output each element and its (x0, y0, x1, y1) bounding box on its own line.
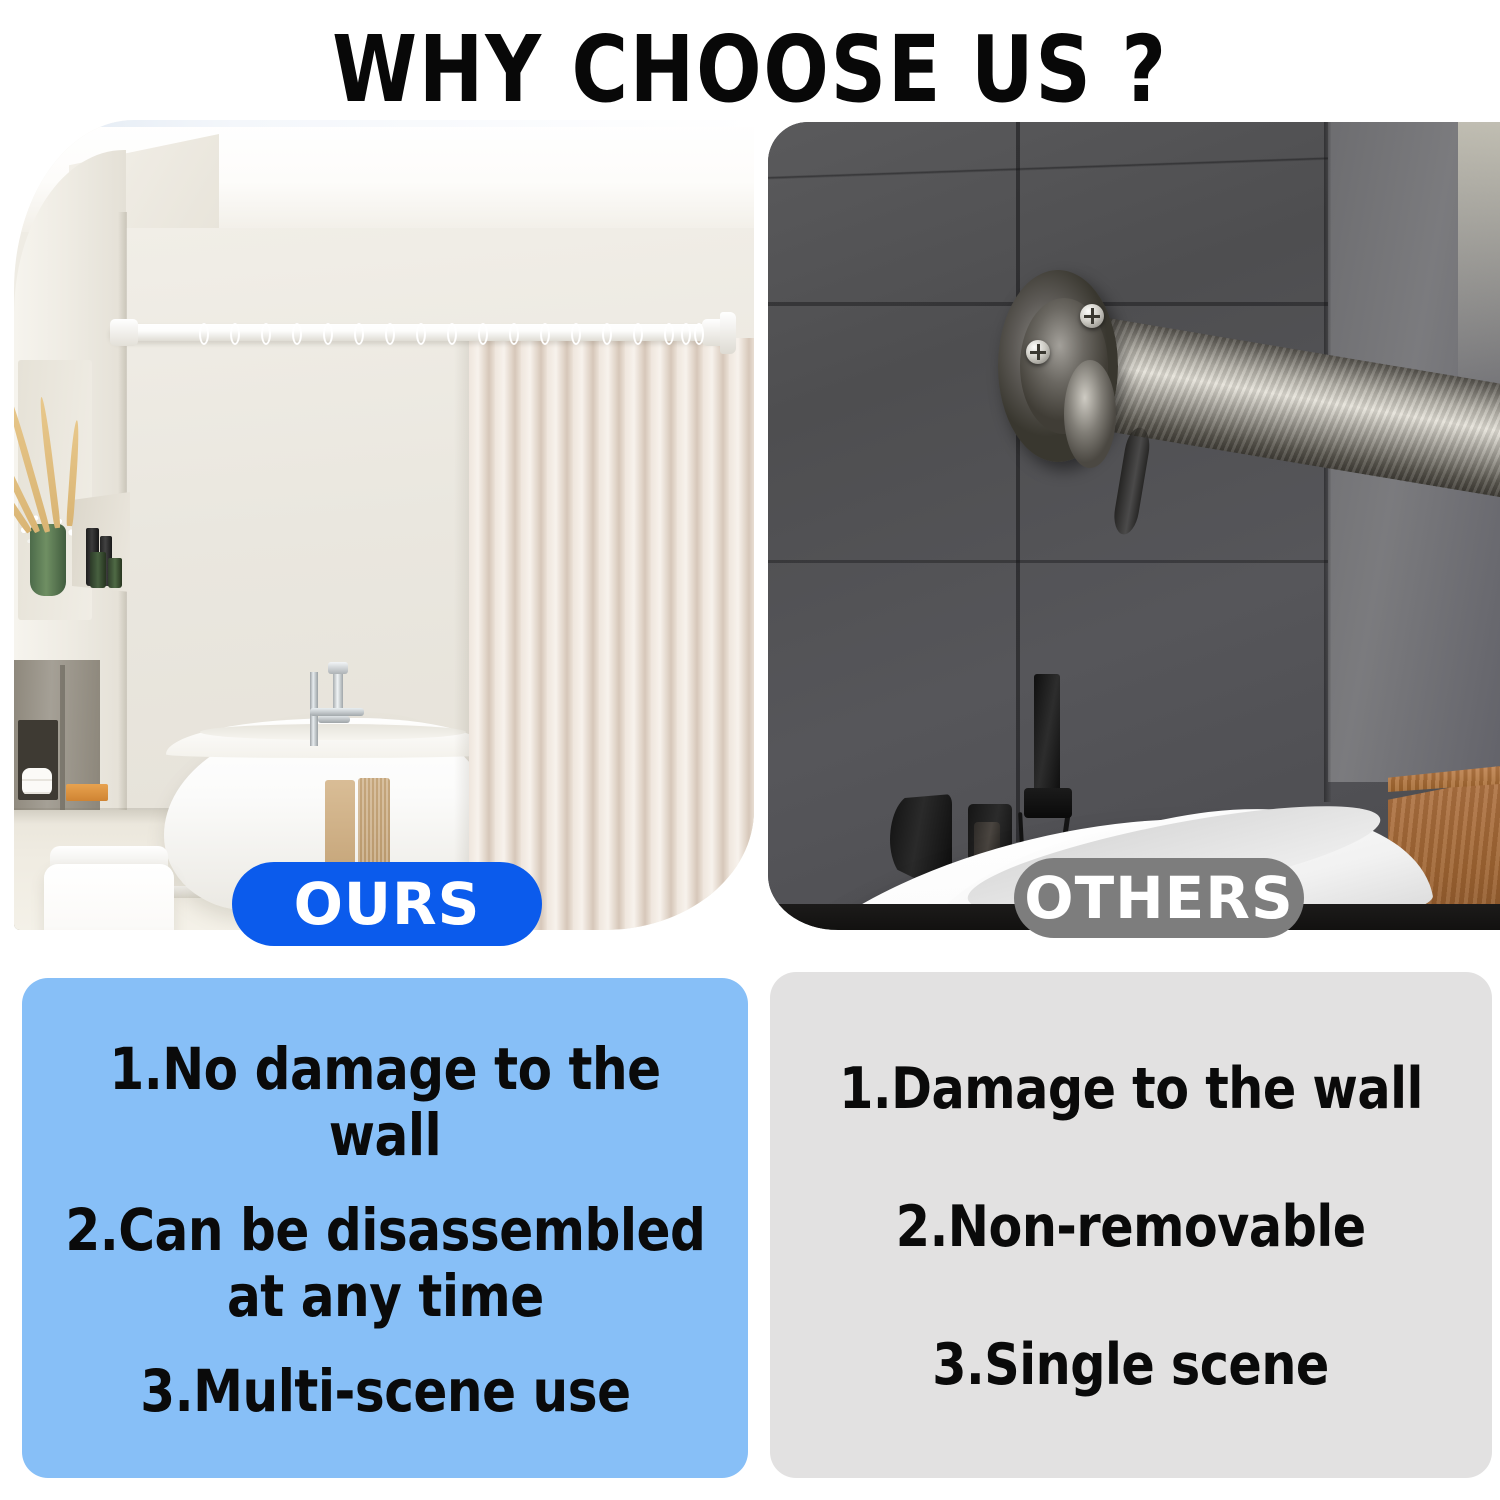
curtain-ring (681, 323, 691, 345)
curtain-ring (323, 323, 333, 345)
curtain-ring (571, 323, 581, 345)
infographic-root: WHY CHOOSE US ? (0, 0, 1500, 1500)
ours-badge: OURS (232, 862, 542, 946)
mounting-screw (1026, 340, 1050, 364)
curtain-ring (230, 323, 240, 345)
rod-wall-flange (720, 312, 736, 354)
curtain-ring (292, 323, 302, 345)
others-feature-2: 2.Non-removable (896, 1194, 1366, 1260)
toiletry-bottle (90, 552, 106, 588)
curtain-ring (385, 323, 395, 345)
tub-handheld-head (328, 662, 348, 674)
others-feature-3: 3.Single scene (933, 1332, 1330, 1398)
rod-end-cap (1064, 360, 1116, 468)
tile-grout-diagonal (768, 154, 1328, 184)
curtain-ring (199, 323, 209, 345)
curtain-ring (416, 323, 426, 345)
others-badge: OTHERS (1014, 858, 1304, 938)
ours-feature-3: 3.Multi-scene use (140, 1358, 630, 1424)
ceiling-edge (14, 120, 754, 127)
toilet-bowl (44, 864, 174, 930)
ours-product-photo (14, 120, 754, 930)
curtain-ring (509, 323, 519, 345)
mounting-screw (1080, 304, 1104, 328)
leather-drawer-handle (66, 784, 108, 801)
curtain-ring (694, 323, 704, 345)
curtain-ring (261, 323, 271, 345)
wall-light-highlight (1458, 122, 1500, 402)
curtain-ring (354, 323, 364, 345)
curtain-ring (447, 323, 457, 345)
curtain-ring (602, 323, 612, 345)
others-feature-1: 1.Damage to the wall (839, 1056, 1423, 1122)
ours-feature-panel: 1.No damage to the wall 2.Can be disasse… (22, 978, 748, 1478)
bathtub-interior (200, 724, 466, 740)
rolled-towels (22, 768, 52, 796)
green-vase (30, 524, 66, 596)
ours-feature-1: 1.No damage to the wall (58, 1036, 713, 1168)
page-title: WHY CHOOSE US ? (53, 22, 1448, 118)
curtain-ring (664, 323, 674, 345)
shower-hose-outlet (1024, 788, 1072, 818)
black-handheld-wand (1034, 674, 1060, 802)
ours-feature-2: 2.Can be disassembled at any time (65, 1197, 705, 1329)
tub-faucet-valve (318, 716, 350, 723)
curtain-ring (633, 323, 643, 345)
curtain-ring (540, 323, 550, 345)
curtain-ring (478, 323, 488, 345)
tub-faucet-spout (310, 708, 364, 716)
rod-collar-left (110, 319, 138, 346)
others-feature-panel: 1.Damage to the wall 2.Non-removable 3.S… (770, 972, 1492, 1478)
others-product-photo (768, 122, 1500, 930)
toiletry-bottle (108, 558, 122, 588)
shower-curtain (469, 338, 754, 930)
